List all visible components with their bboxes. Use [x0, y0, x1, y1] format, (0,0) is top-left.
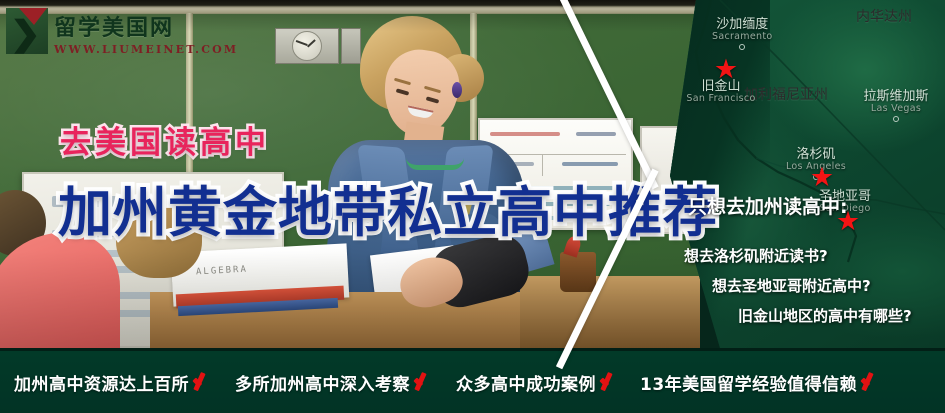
city-name-en: San Francisco [682, 94, 760, 104]
check-mark-icon [598, 371, 618, 393]
city-dot-icon [893, 116, 899, 122]
region-label-nevada: 内华达州 [856, 6, 912, 26]
feature-item: 多所加州高中深入考察 [235, 370, 432, 395]
city-name-en: Sacramento [712, 32, 772, 42]
promo-banner: ALGEBRA 去美国读高中 加州黄金地带私立高中推荐 内华达州 加利福尼亚州 [0, 0, 945, 413]
city-name-cn: 沙加缅度 [712, 18, 772, 32]
city-dot-icon [739, 44, 745, 50]
city-las-vegas: 拉斯维加斯 Las Vegas [852, 90, 940, 122]
feature-text: 13年美国留学经验值得信赖 [640, 370, 857, 395]
city-name-cn: 拉斯维加斯 [852, 90, 940, 104]
check-mark-icon [412, 371, 432, 393]
kicker-text: 去美国读高中 [60, 117, 270, 162]
feature-text: 加州高中资源达上百所 [14, 370, 189, 395]
feature-item: 众多高中成功案例 [456, 370, 618, 395]
feature-text: 多所加州高中深入考察 [235, 370, 410, 395]
logo-text: 留学美国网 WWW.LIUMEINET.COM [54, 8, 238, 56]
logo-name-cn: 留学美国网 [54, 10, 238, 42]
logo-mark-icon: ❯ [6, 8, 48, 54]
city-name-en: Las Vegas [852, 104, 940, 114]
city-name-cn: 洛杉矶 [776, 148, 856, 162]
feature-item: 13年美国留学经验值得信赖 [640, 370, 879, 395]
panel-question-3: 旧金山地区的高中有哪些? [738, 305, 912, 326]
panel-question-2: 想去圣地亚哥附近高中? [712, 275, 871, 296]
check-mark-icon [859, 371, 879, 393]
page-title: 加州黄金地带私立高中推荐 [58, 168, 718, 247]
panel-question-1: 想去洛杉矶附近读书? [684, 245, 828, 266]
feature-bar: 加州高中资源达上百所 多所加州高中深入考察 众多高中成功案例 13年美国留学经验… [0, 348, 945, 413]
feature-item: 加州高中资源达上百所 [14, 370, 211, 395]
feature-text: 众多高中成功案例 [456, 370, 596, 395]
city-sacramento: 沙加缅度 Sacramento [712, 18, 772, 50]
logo-url: WWW.LIUMEINET.COM [54, 43, 238, 56]
check-mark-icon [191, 371, 211, 393]
site-logo[interactable]: ❯ 留学美国网 WWW.LIUMEINET.COM [6, 8, 238, 56]
logo-glyph-icon: ❯ [10, 14, 41, 54]
panel-title: 只想去加州读高中: [688, 192, 848, 219]
